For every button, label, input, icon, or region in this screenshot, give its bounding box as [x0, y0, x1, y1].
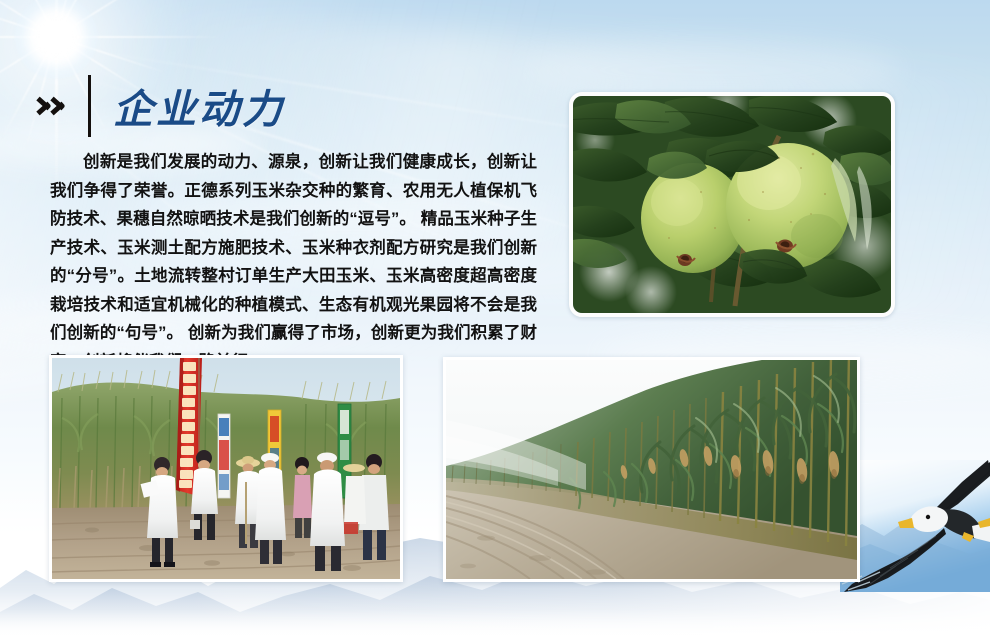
photo-cornfield-rows: [443, 357, 860, 582]
photo-green-pears-on-tree: [569, 92, 895, 317]
pears-image: [573, 96, 891, 313]
double-chevron-right-icon: [38, 89, 66, 123]
header-divider: [88, 75, 91, 137]
sun-flare-icon: [14, 0, 98, 79]
cloud-wisp-icon: [520, 40, 900, 100]
field-event-image: [52, 358, 400, 579]
cornfield-image: [446, 360, 857, 579]
photo-cornfield-demonstration-meeting: [49, 355, 403, 582]
flag-banner-white: [218, 414, 230, 498]
poster-page: 企业动力 创新是我们发展的动力、源泉，创新让我们健康成长，创新让我们争得了荣誉。…: [0, 0, 990, 636]
section-header: 企业动力: [38, 72, 285, 140]
flying-eagle-icon: [840, 460, 990, 592]
body-paragraph: 创新是我们发展的动力、源泉，创新让我们健康成长，创新让我们争得了荣誉。正德系列玉…: [50, 148, 537, 376]
sun-flare-icon: [0, 1, 166, 74]
page-title: 企业动力: [113, 77, 285, 135]
sun-flare-icon: [0, 36, 221, 38]
